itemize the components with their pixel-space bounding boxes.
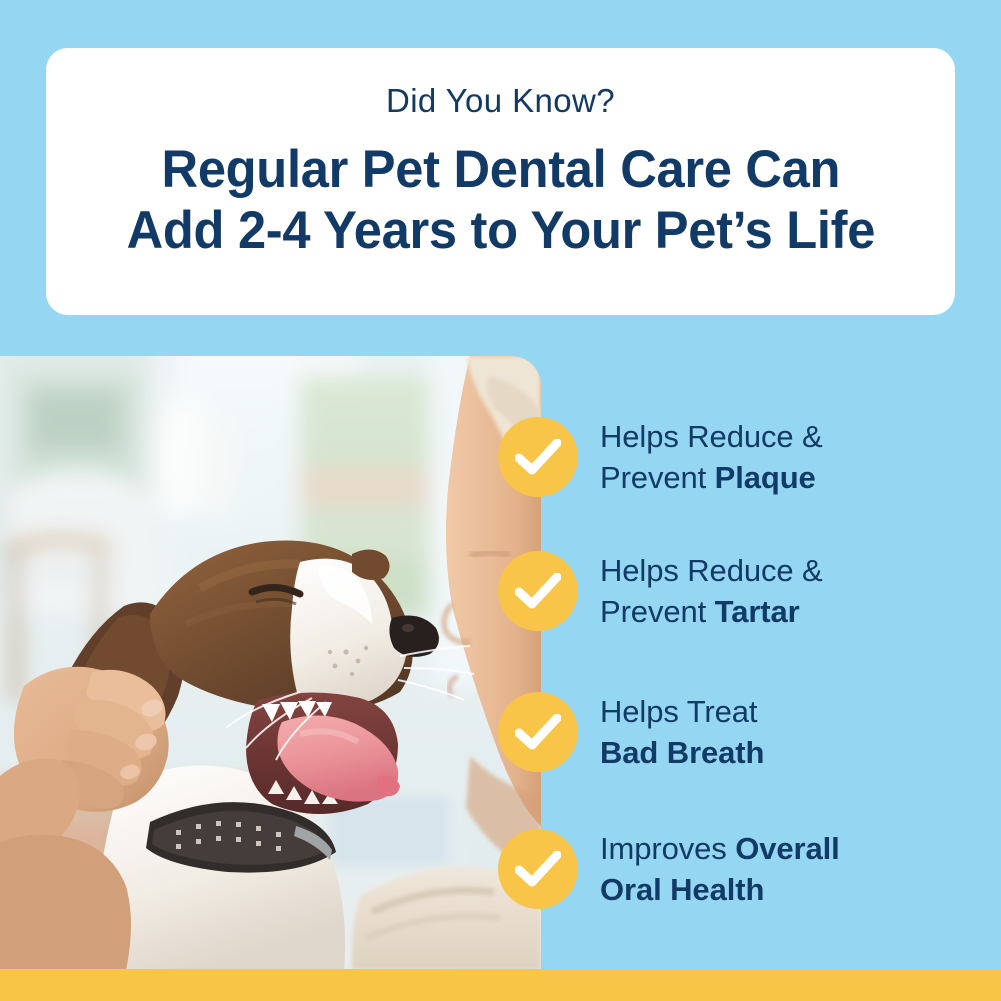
benefit-line-2: Oral Health <box>600 869 968 910</box>
benefit-line-1: Improves Overall <box>600 828 968 869</box>
benefit-label: Helps Reduce & Prevent Tartar <box>578 550 968 632</box>
benefit-line-2: Bad Breath <box>600 732 968 773</box>
benefit-line-1-normal: Improves <box>600 831 735 866</box>
benefit-item-plaque: Helps Reduce & Prevent Plaque <box>498 416 968 498</box>
benefit-label: Helps Reduce & Prevent Plaque <box>578 416 968 498</box>
benefit-item-oral-health: Improves Overall Oral Health <box>498 828 968 910</box>
benefit-line-2-bold: Oral Health <box>600 872 764 907</box>
check-icon <box>498 551 578 631</box>
check-icon <box>498 829 578 909</box>
benefit-line-2-bold: Plaque <box>715 460 816 495</box>
check-icon <box>498 417 578 497</box>
benefit-line-2-normal: Prevent <box>600 594 715 629</box>
benefit-line-2: Prevent Tartar <box>600 591 968 632</box>
benefit-item-bad-breath: Helps Treat Bad Breath <box>498 691 968 773</box>
dog-photo <box>0 356 541 970</box>
benefit-label: Improves Overall Oral Health <box>578 828 968 910</box>
headline-line-2: Add 2-4 Years to Your Pet’s Life <box>126 200 874 261</box>
benefit-line-1: Helps Reduce & <box>600 550 968 591</box>
benefits-list: Helps Reduce & Prevent Plaque Helps Redu… <box>498 408 968 938</box>
benefit-item-tartar: Helps Reduce & Prevent Tartar <box>498 550 968 632</box>
headline-line-1: Regular Pet Dental Care Can <box>126 139 874 200</box>
benefit-line-1: Helps Reduce & <box>600 416 968 457</box>
benefit-line-2-bold: Bad Breath <box>600 735 764 770</box>
benefit-line-1-bold: Overall <box>735 831 839 866</box>
benefit-line-2-normal: Prevent <box>600 460 715 495</box>
benefit-line-1: Helps Treat <box>600 691 968 732</box>
check-icon <box>498 692 578 772</box>
benefit-label: Helps Treat Bad Breath <box>578 691 968 773</box>
benefit-line-2-bold: Tartar <box>715 594 800 629</box>
header-card: Did You Know? Regular Pet Dental Care Ca… <box>46 48 955 315</box>
benefit-line-2: Prevent Plaque <box>600 457 968 498</box>
infographic-poster: Did You Know? Regular Pet Dental Care Ca… <box>0 0 1001 1001</box>
eyebrow-text: Did You Know? <box>386 84 615 117</box>
bottom-accent-bar <box>0 969 1001 1001</box>
page-title: Regular Pet Dental Care Can Add 2-4 Year… <box>126 117 874 262</box>
